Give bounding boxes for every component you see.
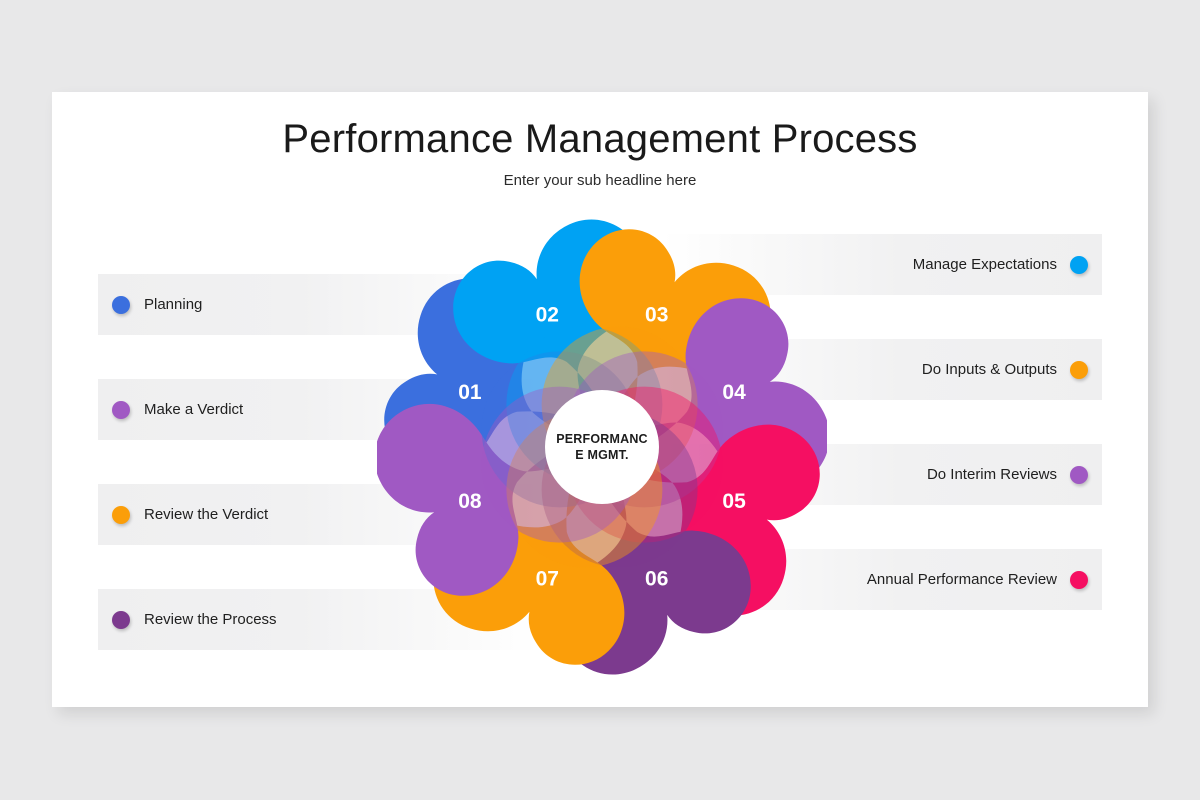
- petal-number-03: 03: [645, 303, 668, 326]
- legend-label: Do Inputs & Outputs: [922, 361, 1057, 378]
- legend-dot-icon: [1070, 466, 1088, 484]
- page-title: Performance Management Process: [52, 117, 1148, 162]
- legend-dot-icon: [1070, 256, 1088, 274]
- legend-dot-icon: [1070, 571, 1088, 589]
- legend-dot-icon: [112, 296, 130, 314]
- petal-number-08: 08: [458, 490, 482, 513]
- legend-label: Annual Performance Review: [867, 571, 1057, 588]
- legend-dot-icon: [112, 401, 130, 419]
- legend-dot-icon: [112, 506, 130, 524]
- petal-number-05: 05: [722, 490, 746, 513]
- petal-number-07: 07: [536, 568, 559, 591]
- page-subtitle: Enter your sub headline here: [52, 172, 1148, 189]
- legend-dot-icon: [112, 611, 130, 629]
- petal-number-02: 02: [536, 303, 559, 326]
- legend-label: Planning: [144, 296, 202, 313]
- petal-number-04: 04: [722, 381, 746, 404]
- legend-label: Make a Verdict: [144, 401, 243, 418]
- legend-label: Review the Verdict: [144, 506, 268, 523]
- center-label: PERFORMANCE MGMT.: [554, 431, 650, 463]
- petal-number-01: 01: [458, 381, 482, 404]
- petal-number-06: 06: [645, 568, 668, 591]
- legend-label: Do Interim Reviews: [927, 466, 1057, 483]
- legend-dot-icon: [1070, 361, 1088, 379]
- legend-label: Review the Process: [144, 611, 277, 628]
- legend-label: Manage Expectations: [913, 256, 1057, 273]
- slide-card: Performance Management Process Enter you…: [52, 92, 1148, 707]
- flower-diagram: 0102030405060708 PERFORMANCE MGMT.: [377, 197, 827, 697]
